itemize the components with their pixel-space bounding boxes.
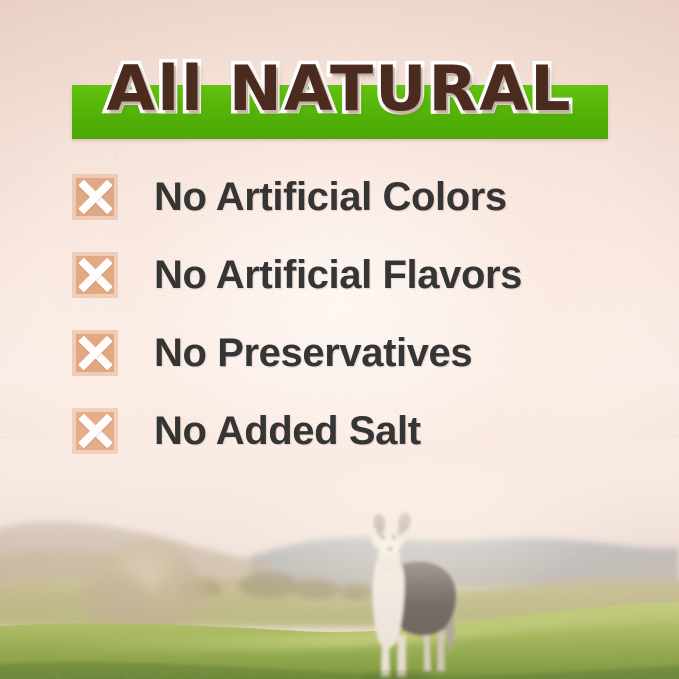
claim-label: No Added Salt [154, 409, 421, 453]
list-item: No Added Salt [72, 402, 632, 460]
claim-label: No Artificial Colors [154, 175, 507, 219]
claims-list: No Artificial Colors No Artificial Flavo… [72, 168, 632, 460]
hero-photo [0, 439, 679, 679]
x-mark-icon [72, 252, 118, 298]
all-natural-poster: All NATURAL No Artificial Colors No Arti… [0, 0, 679, 679]
landscape-illustration [0, 439, 679, 679]
list-item: No Artificial Flavors [72, 246, 632, 304]
claim-label: No Preservatives [154, 331, 472, 375]
page-title: All NATURAL [0, 52, 679, 126]
x-mark-icon [72, 408, 118, 454]
headline-banner: All NATURAL [0, 52, 679, 142]
claim-label: No Artificial Flavors [154, 253, 522, 297]
list-item: No Artificial Colors [72, 168, 632, 226]
x-mark-icon [72, 174, 118, 220]
x-mark-icon [72, 330, 118, 376]
list-item: No Preservatives [72, 324, 632, 382]
